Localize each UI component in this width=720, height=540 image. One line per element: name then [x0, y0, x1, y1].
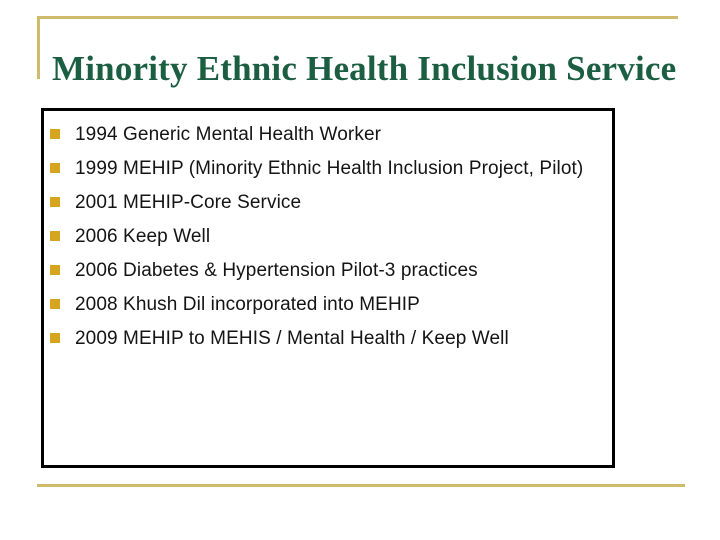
square-bullet-icon: [50, 333, 60, 343]
bottom-rule-divider: [37, 484, 685, 487]
list-item: 2006 Diabetes & Hypertension Pilot-3 pra…: [44, 254, 598, 288]
list-item: 1994 Generic Mental Health Worker: [44, 118, 598, 152]
square-bullet-icon: [50, 163, 60, 173]
list-item-label: 1994 Generic Mental Health Worker: [75, 118, 598, 152]
slide-title: Minority Ethnic Health Inclusion Service: [52, 47, 692, 91]
list-item-label: 2006 Diabetes & Hypertension Pilot-3 pra…: [75, 254, 598, 288]
square-bullet-icon: [50, 299, 60, 309]
content-box: 1994 Generic Mental Health Worker1999 ME…: [41, 108, 615, 468]
square-bullet-icon: [50, 231, 60, 241]
list-item-label: 1999 MEHIP (Minority Ethnic Health Inclu…: [75, 152, 598, 186]
bullet-list: 1994 Generic Mental Health Worker1999 ME…: [44, 111, 612, 356]
list-item: 1999 MEHIP (Minority Ethnic Health Inclu…: [44, 152, 598, 186]
presentation-slide: Minority Ethnic Health Inclusion Service…: [0, 0, 720, 540]
square-bullet-icon: [50, 197, 60, 207]
list-item-label: 2001 MEHIP-Core Service: [75, 186, 598, 220]
square-bullet-icon: [50, 265, 60, 275]
list-item: 2006 Keep Well: [44, 220, 598, 254]
list-item: 2009 MEHIP to MEHIS / Mental Health / Ke…: [44, 322, 598, 356]
list-item-label: 2009 MEHIP to MEHIS / Mental Health / Ke…: [75, 322, 598, 356]
list-item: 2001 MEHIP-Core Service: [44, 186, 598, 220]
left-rule-divider: [37, 16, 40, 79]
square-bullet-icon: [50, 129, 60, 139]
top-rule-divider: [37, 16, 678, 19]
list-item-label: 2006 Keep Well: [75, 220, 598, 254]
list-item: 2008 Khush Dil incorporated into MEHIP: [44, 288, 598, 322]
list-item-label: 2008 Khush Dil incorporated into MEHIP: [75, 288, 598, 322]
